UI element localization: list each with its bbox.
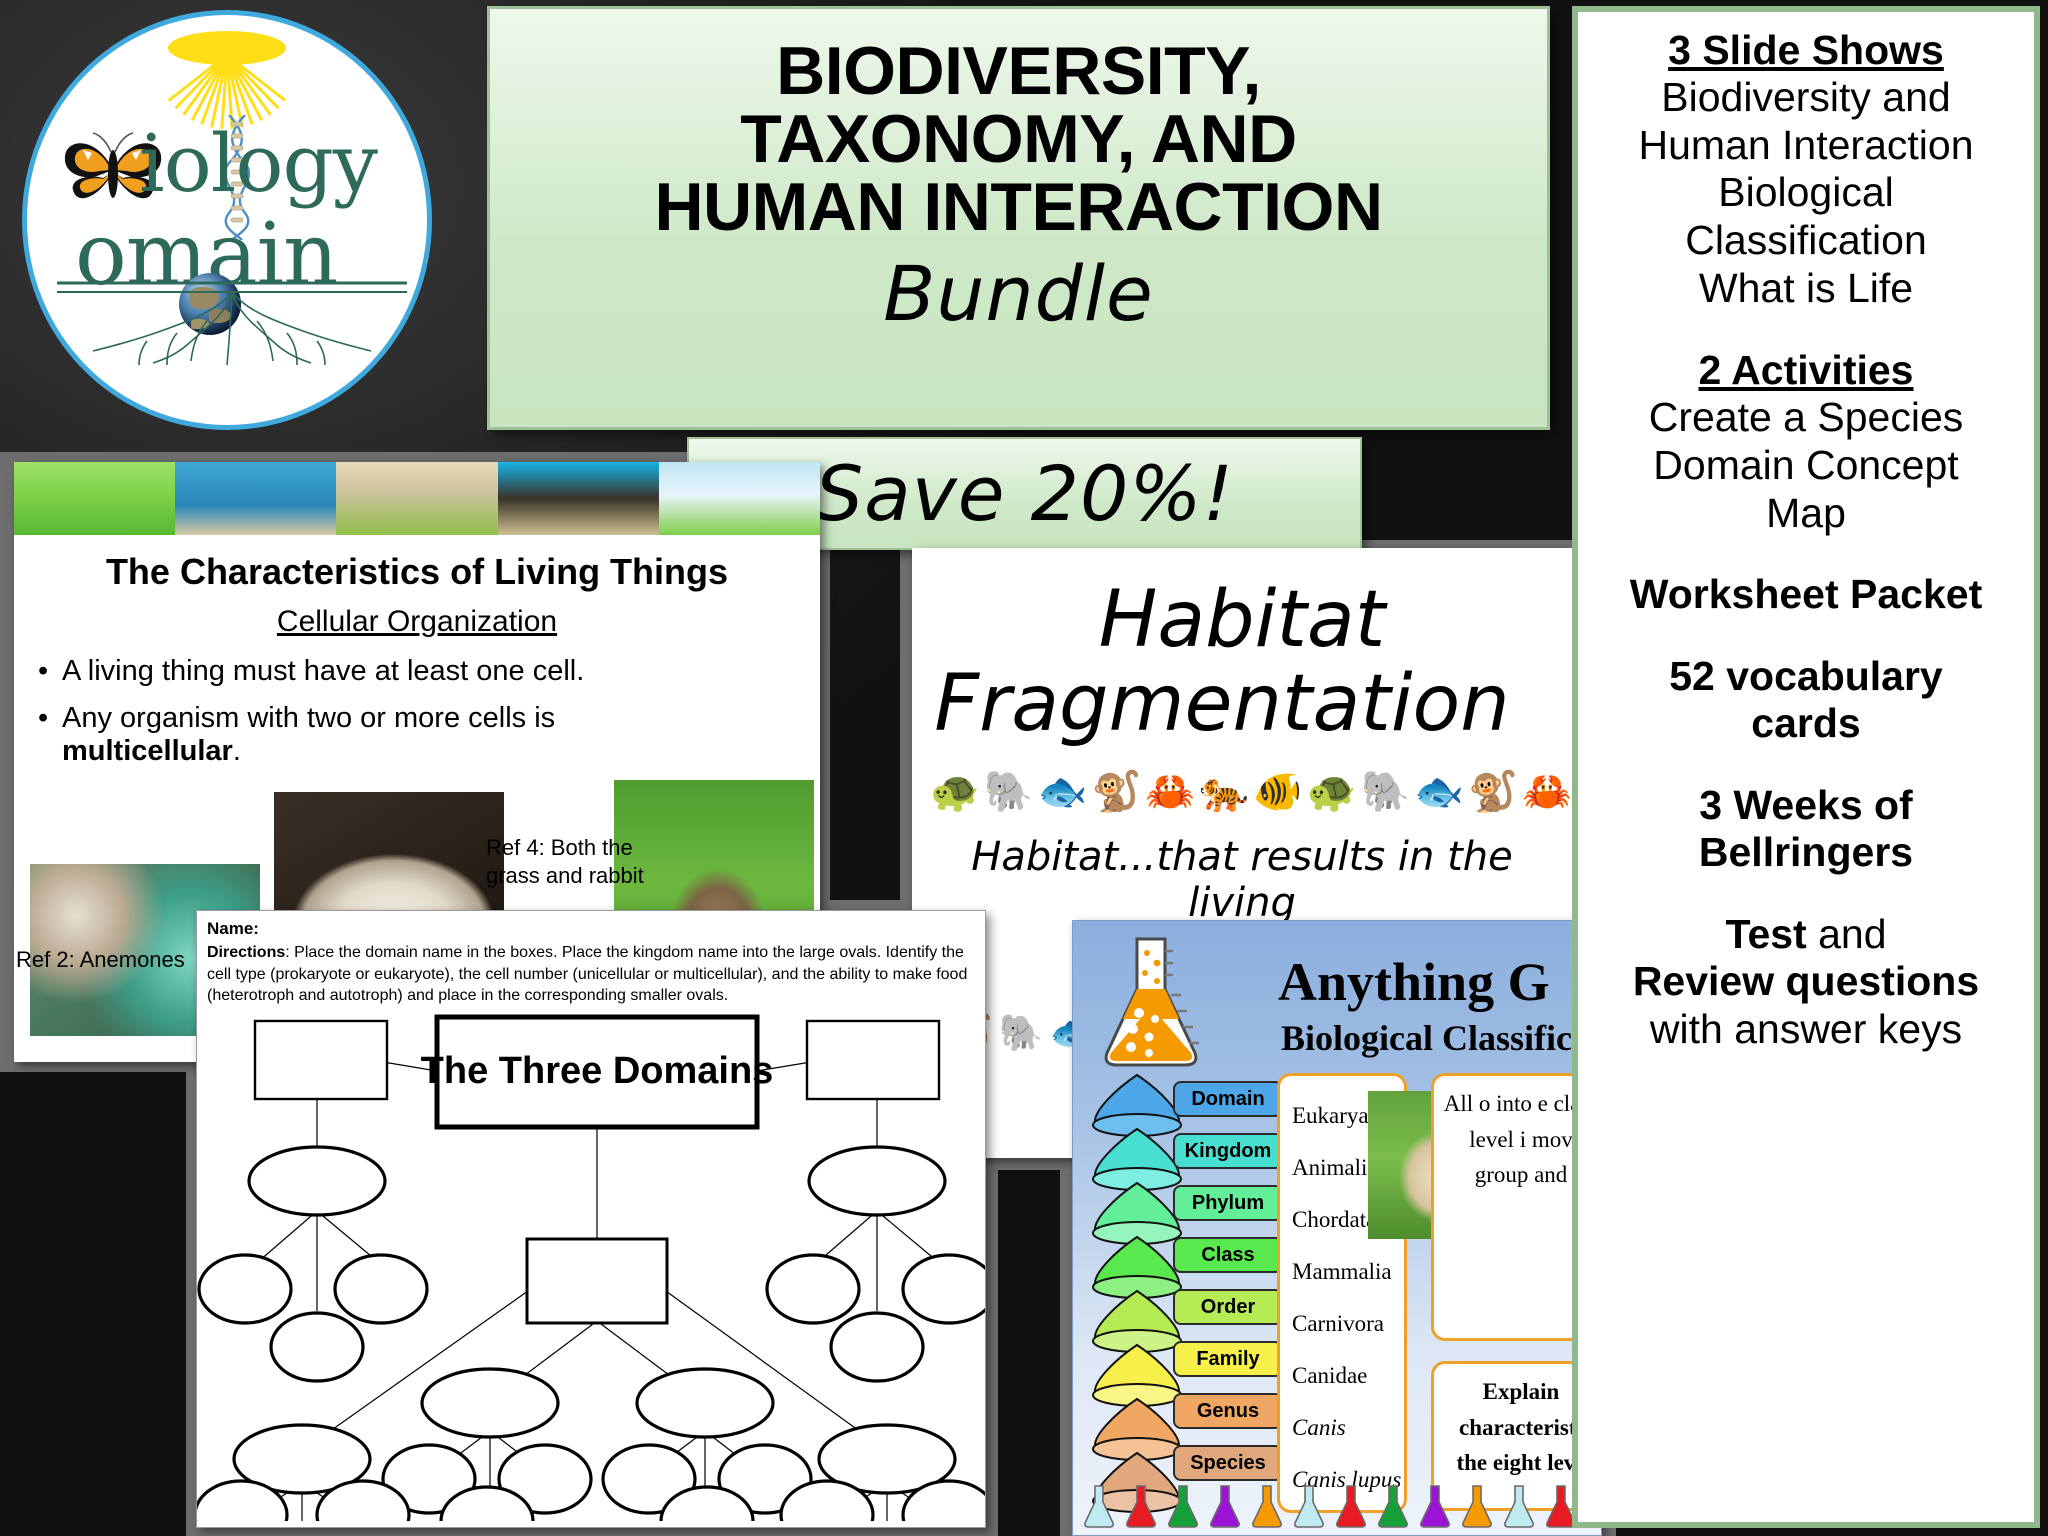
flask-icon xyxy=(1207,1483,1243,1529)
rank-chip-kingdom: Kingdom xyxy=(1173,1133,1283,1169)
animal-icon: 🐘 xyxy=(984,772,1034,812)
sidebar-heading-slide-shows: 3 Slide Shows xyxy=(1590,26,2022,74)
caption-ref-2: Ref 2: Anemones xyxy=(16,946,185,974)
sidebar-vocab-line-1: 52 vocabulary xyxy=(1590,653,2022,701)
sidebar-bellringers-line-2: Bellringers xyxy=(1590,829,2022,877)
animal-icon: 🐢 xyxy=(930,772,980,812)
animal-icon: 🦀 xyxy=(1145,772,1195,812)
animal-icon: 🦀 xyxy=(1522,772,1572,812)
rank-chip-class: Class xyxy=(1173,1237,1283,1273)
title-line-1: BIODIVERSITY, xyxy=(490,37,1547,105)
worksheet-directions-text: : Place the domain name in the boxes. Pl… xyxy=(207,944,967,1004)
habitat-thumb-mountain xyxy=(498,462,659,535)
chars-slide-title: The Characteristics of Living Things xyxy=(14,551,820,593)
taxonomy-rank-labels: Domain Kingdom Phylum Class Order Family… xyxy=(1173,1081,1283,1497)
rank-chip-genus: Genus xyxy=(1173,1393,1283,1429)
worksheet-directions-label: Directions xyxy=(207,944,285,961)
chars-bullet-2-period: . xyxy=(233,735,241,767)
habitat-thumb-field xyxy=(659,462,820,535)
flask-icon xyxy=(1501,1483,1537,1529)
worksheet-preview-three-domains[interactable]: Name: Directions: Place the domain name … xyxy=(196,910,986,1528)
habitat-title-line-2: Fragmentation xyxy=(912,662,1572,746)
animal-icon: 🐠 xyxy=(1253,772,1303,812)
worksheet-name-label: Name: xyxy=(207,919,985,939)
chars-bullet-2-keyword: multicellular xyxy=(62,735,233,767)
chars-bullet-1: A living thing must have at least one ce… xyxy=(36,655,820,688)
rank-chip-order: Order xyxy=(1173,1289,1283,1325)
title-banner: BIODIVERSITY, TAXONOMY, AND HUMAN INTERA… xyxy=(487,6,1550,430)
sidebar-spacer xyxy=(1590,312,2022,346)
sidebar-review-questions: Review questions xyxy=(1590,958,2022,1006)
caption-ref-4: Ref 4: Both the grass and rabbit xyxy=(486,834,644,889)
habitat-thumb-pond xyxy=(175,462,336,535)
taxon-canis: Canis xyxy=(1292,1402,1404,1454)
flask-icon xyxy=(1417,1483,1453,1529)
sidebar-test-and: and xyxy=(1807,911,1887,957)
title-line-3: HUMAN INTERACTION xyxy=(490,173,1547,241)
sidebar-slideshow-2: Human Interaction xyxy=(1590,122,2022,170)
title-bundle-label: Bundle xyxy=(490,249,1547,338)
habitat-thumb-meadow xyxy=(14,462,175,535)
sidebar-worksheet-packet: Worksheet Packet xyxy=(1590,571,2022,619)
sidebar-activity-3: Map xyxy=(1590,490,2022,538)
flask-icon xyxy=(1459,1483,1495,1529)
chars-bullet-2: Any organism with two or more cells is m… xyxy=(36,702,820,768)
sidebar-slideshow-1: Biodiversity and xyxy=(1590,74,2022,122)
brand-logo: iology omain xyxy=(22,10,432,430)
animal-icon: 🐟 xyxy=(1414,772,1464,812)
animal-icon: 🐘 xyxy=(999,1012,1044,1054)
animal-icon: 🐅 xyxy=(1199,772,1249,812)
flask-decoration-row xyxy=(1081,1483,1579,1529)
sidebar-answer-keys: with answer keys xyxy=(1590,1006,2022,1054)
sidebar-vocab-line-2: cards xyxy=(1590,700,2022,748)
sidebar-spacer xyxy=(1590,748,2022,782)
habitat-photo-strip xyxy=(14,462,820,535)
taxon-mammalia: Mammalia xyxy=(1292,1246,1404,1298)
animal-icon: 🐘 xyxy=(1361,772,1411,812)
rank-chip-domain: Domain xyxy=(1173,1081,1283,1117)
worksheet-directions: Directions: Place the domain name in the… xyxy=(207,942,975,1007)
chars-bullet-2-text: Any organism with two or more cells is xyxy=(62,702,555,734)
poster-preview-biological-classification[interactable]: Anything G Biological Classific Domain K… xyxy=(1072,920,1602,1536)
habitat-slide-title: Habitat Fragmentation xyxy=(912,578,1572,746)
poster-title: Anything G xyxy=(1278,951,1550,1013)
caption-ref-4-line1: Ref 4: Both the xyxy=(486,835,633,860)
animal-icon: 🐒 xyxy=(1468,772,1518,812)
erlenmeyer-flask-icon xyxy=(1091,933,1211,1073)
sidebar-slideshow-3: Biological xyxy=(1590,169,2022,217)
habitat-title-line-1: Habitat xyxy=(912,578,1572,662)
save-discount-text: Save 20%! xyxy=(815,449,1234,538)
flask-icon xyxy=(1123,1483,1159,1529)
logo-word-biology: iology xyxy=(139,117,377,210)
sidebar-bellringers-line-1: 3 Weeks of xyxy=(1590,782,2022,830)
taxon-canidae: Canidae xyxy=(1292,1350,1404,1402)
sidebar-spacer xyxy=(1590,619,2022,653)
sidebar-activity-2: Domain Concept xyxy=(1590,442,2022,490)
plant-roots-icon xyxy=(57,275,407,367)
animal-emoji-row: 🐢 🐘 🐟 🐒 🦀 🐅 🐠 🐢 🐘 🐟 🐒 🦀 xyxy=(930,772,1572,812)
sidebar-test-bold: Test xyxy=(1725,911,1806,957)
title-line-2: TAXONOMY, AND xyxy=(490,105,1547,173)
rank-chip-species: Species xyxy=(1173,1445,1283,1481)
flask-icon xyxy=(1249,1483,1285,1529)
sidebar-slideshow-4: Classification xyxy=(1590,217,2022,265)
flask-icon xyxy=(1375,1483,1411,1529)
sidebar-spacer xyxy=(1590,537,2022,571)
animal-icon: 🐢 xyxy=(1307,772,1357,812)
sidebar-heading-activities: 2 Activities xyxy=(1590,346,2022,394)
rank-chip-phylum: Phylum xyxy=(1173,1185,1283,1221)
concept-map-center-label: The Three Domains xyxy=(421,1050,774,1092)
flask-icon xyxy=(1291,1483,1327,1529)
sidebar-spacer xyxy=(1590,877,2022,911)
chars-bullet-list: A living thing must have at least one ce… xyxy=(36,655,820,768)
flask-icon xyxy=(1165,1483,1201,1529)
flask-icon xyxy=(1333,1483,1369,1529)
chars-slide-subtitle: Cellular Organization xyxy=(14,605,820,639)
rank-chip-family: Family xyxy=(1173,1341,1283,1377)
habitat-thumb-savanna xyxy=(336,462,497,535)
caption-ref-4-line2: grass and rabbit xyxy=(486,863,644,888)
animal-icon: 🐒 xyxy=(1091,772,1141,812)
sidebar-slideshow-5: What is Life xyxy=(1590,265,2022,313)
sidebar-test-line: Test and xyxy=(1590,911,2022,959)
contents-sidebar: 3 Slide Shows Biodiversity and Human Int… xyxy=(1572,6,2040,1528)
animal-icon: 🐟 xyxy=(1038,772,1088,812)
poster-subtitle: Biological Classific xyxy=(1281,1017,1572,1059)
concept-map-diagram: The Three Domains xyxy=(197,1011,986,1521)
habitat-body-line-1: Habitat...that results in the living xyxy=(912,834,1572,926)
flask-icon xyxy=(1081,1483,1117,1529)
sidebar-activity-1: Create a Species xyxy=(1590,394,2022,442)
taxon-carnivora: Carnivora xyxy=(1292,1298,1404,1350)
